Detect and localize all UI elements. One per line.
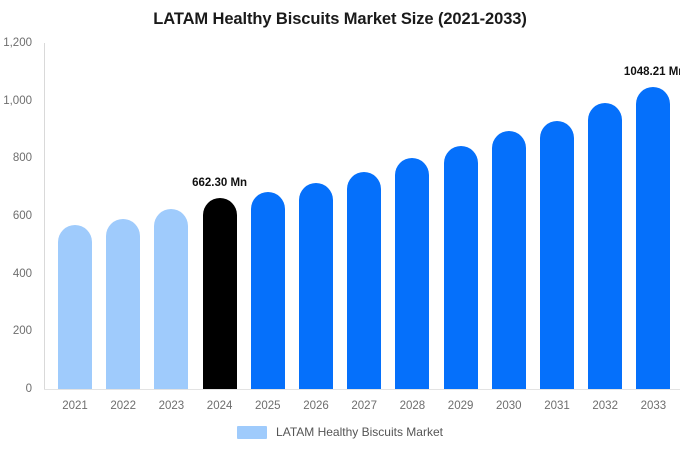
- bar-group[interactable]: [347, 172, 381, 389]
- bar-group[interactable]: 662.30 Mn: [203, 198, 237, 389]
- legend-label[interactable]: LATAM Healthy Biscuits Market: [276, 425, 443, 439]
- bar-2032[interactable]: [588, 103, 622, 389]
- y-axis-tick-label: 400: [0, 268, 32, 280]
- bar-2028[interactable]: [395, 158, 429, 389]
- y-axis-tick-label: 1,200: [0, 37, 32, 49]
- legend-swatch[interactable]: [237, 426, 267, 439]
- bar-value-label-2024: 662.30 Mn: [192, 177, 247, 189]
- chart-legend: LATAM Healthy Biscuits Market: [0, 425, 680, 439]
- bar-group[interactable]: [588, 103, 622, 389]
- bars-layer: 662.30 Mn1048.21 Mn: [44, 43, 680, 389]
- bar-group[interactable]: [444, 146, 478, 389]
- bar-group[interactable]: [395, 158, 429, 389]
- bar-group[interactable]: [154, 209, 188, 389]
- bar-2030[interactable]: [492, 131, 526, 389]
- x-axis-tick-label: 2033: [623, 400, 680, 412]
- bar-group[interactable]: [58, 225, 92, 389]
- bar-2023[interactable]: [154, 209, 188, 389]
- y-axis-tick-label: 200: [0, 325, 32, 337]
- y-axis-tick-label: 1,000: [0, 95, 32, 107]
- bar-2022[interactable]: [106, 219, 140, 389]
- bar-2026[interactable]: [299, 183, 333, 389]
- bar-2029[interactable]: [444, 146, 478, 389]
- bar-2021[interactable]: [58, 225, 92, 389]
- bar-value-label-2033: 1048.21 Mn: [624, 66, 680, 78]
- bar-2031[interactable]: [540, 121, 574, 389]
- chart-title: LATAM Healthy Biscuits Market Size (2021…: [0, 10, 680, 29]
- bar-2027[interactable]: [347, 172, 381, 389]
- x-axis-line: [44, 389, 680, 390]
- chart-container: LATAM Healthy Biscuits Market Size (2021…: [0, 0, 680, 450]
- y-axis-tick-label: 0: [0, 383, 32, 395]
- bar-group[interactable]: [251, 192, 285, 389]
- y-axis-tick-label: 800: [0, 152, 32, 164]
- y-axis-tick-label: 600: [0, 210, 32, 222]
- bar-2025[interactable]: [251, 192, 285, 389]
- bar-group[interactable]: [299, 183, 333, 389]
- bar-group[interactable]: [540, 121, 574, 389]
- bar-group[interactable]: [492, 131, 526, 389]
- plot-area: 662.30 Mn1048.21 Mn: [44, 43, 680, 389]
- bar-2033[interactable]: [636, 87, 670, 389]
- bar-group[interactable]: [106, 219, 140, 389]
- bar-2024[interactable]: [203, 198, 237, 389]
- bar-group[interactable]: 1048.21 Mn: [636, 87, 670, 389]
